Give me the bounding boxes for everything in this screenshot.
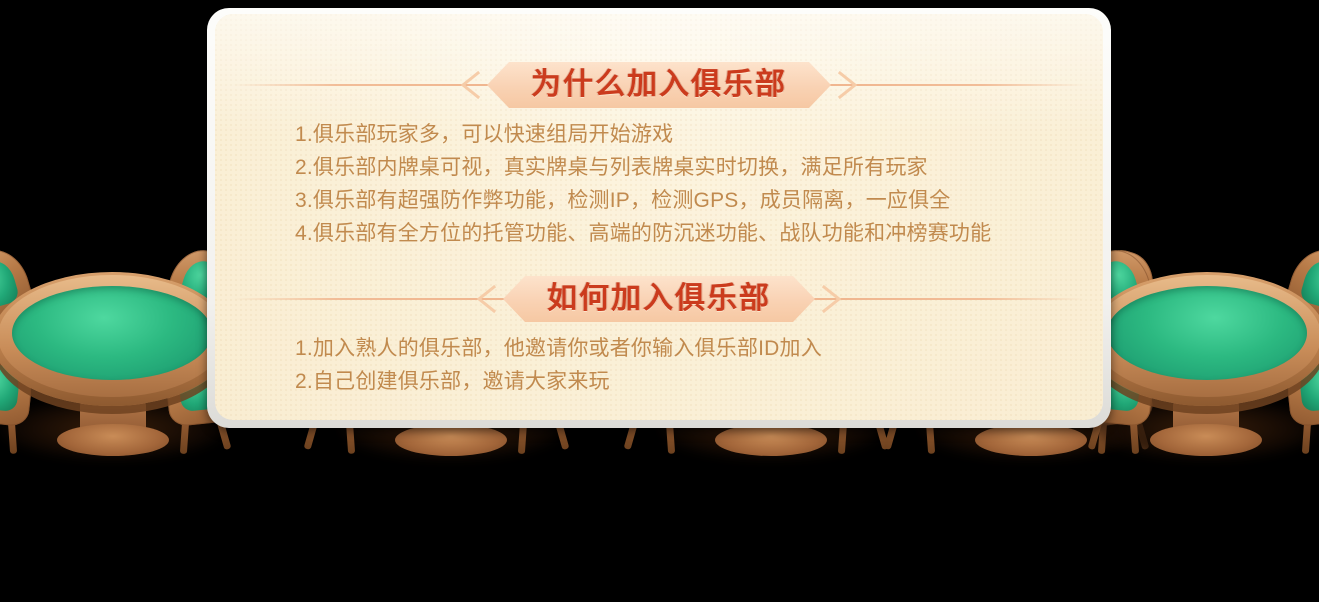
section-title: 为什么加入俱乐部 [531, 62, 787, 108]
list-item-text: 自己创建俱乐部，邀请大家来玩 [313, 370, 610, 393]
table-foot [57, 424, 169, 456]
heading-ribbon: 如何加入俱乐部 [503, 276, 815, 322]
heading-center: 为什么加入俱乐部 [459, 62, 859, 108]
table-foot [715, 424, 827, 456]
table-foot [1150, 424, 1262, 456]
section-heading-how-to-join: 如何加入俱乐部 [215, 276, 1103, 322]
list-item-text: 俱乐部有超强防作弊功能，检测IP，检测GPS，成员隔离，一应俱全 [313, 189, 951, 212]
list-item: 3.俱乐部有超强防作弊功能，检测IP，检测GPS，成员隔离，一应俱全 [295, 184, 1075, 217]
list-item-text: 俱乐部玩家多，可以快速组局开始游戏 [313, 123, 673, 146]
info-panel: 为什么加入俱乐部 1.俱乐部玩家多，可以快速组局开始游戏 2.俱乐部内牌桌可视，… [215, 14, 1103, 420]
screen: 为什么加入俱乐部 1.俱乐部玩家多，可以快速组局开始游戏 2.俱乐部内牌桌可视，… [0, 0, 1319, 602]
list-item-number: 1. [295, 123, 313, 146]
why-join-list: 1.俱乐部玩家多，可以快速组局开始游戏 2.俱乐部内牌桌可视，真实牌桌与列表牌桌… [295, 118, 1075, 250]
list-item: 1.加入熟人的俱乐部，他邀请你或者你输入俱乐部ID加入 [295, 332, 1075, 365]
chevron-left-icon [475, 284, 497, 314]
section-heading-why-join: 为什么加入俱乐部 [215, 62, 1103, 108]
heading-center: 如何加入俱乐部 [475, 276, 843, 322]
table-felt [12, 286, 212, 380]
chevron-left-icon [459, 70, 481, 100]
list-item: 4.俱乐部有全方位的托管功能、高端的防沉迷功能、战队功能和冲榜赛功能 [295, 217, 1075, 250]
table-foot [395, 424, 507, 456]
how-to-join-list: 1.加入熟人的俱乐部，他邀请你或者你输入俱乐部ID加入 2.自己创建俱乐部，邀请… [295, 332, 1075, 398]
list-item-number: 4. [295, 222, 313, 245]
list-item-number: 1. [295, 337, 313, 360]
chevron-right-icon [821, 284, 843, 314]
list-item-number: 3. [295, 189, 313, 212]
list-item-number: 2. [295, 156, 313, 179]
chevron-right-icon [837, 70, 859, 100]
heading-ribbon: 为什么加入俱乐部 [487, 62, 831, 108]
table-felt [1107, 286, 1307, 380]
list-item: 2.俱乐部内牌桌可视，真实牌桌与列表牌桌实时切换，满足所有玩家 [295, 151, 1075, 184]
list-item-number: 2. [295, 370, 313, 393]
list-item-text: 加入熟人的俱乐部，他邀请你或者你输入俱乐部ID加入 [313, 337, 822, 360]
list-item: 2.自己创建俱乐部，邀请大家来玩 [295, 365, 1075, 398]
list-item-text: 俱乐部有全方位的托管功能、高端的防沉迷功能、战队功能和冲榜赛功能 [313, 222, 991, 245]
list-item: 1.俱乐部玩家多，可以快速组局开始游戏 [295, 118, 1075, 151]
section-title: 如何加入俱乐部 [547, 276, 771, 322]
list-item-text: 俱乐部内牌桌可视，真实牌桌与列表牌桌实时切换，满足所有玩家 [313, 156, 928, 179]
